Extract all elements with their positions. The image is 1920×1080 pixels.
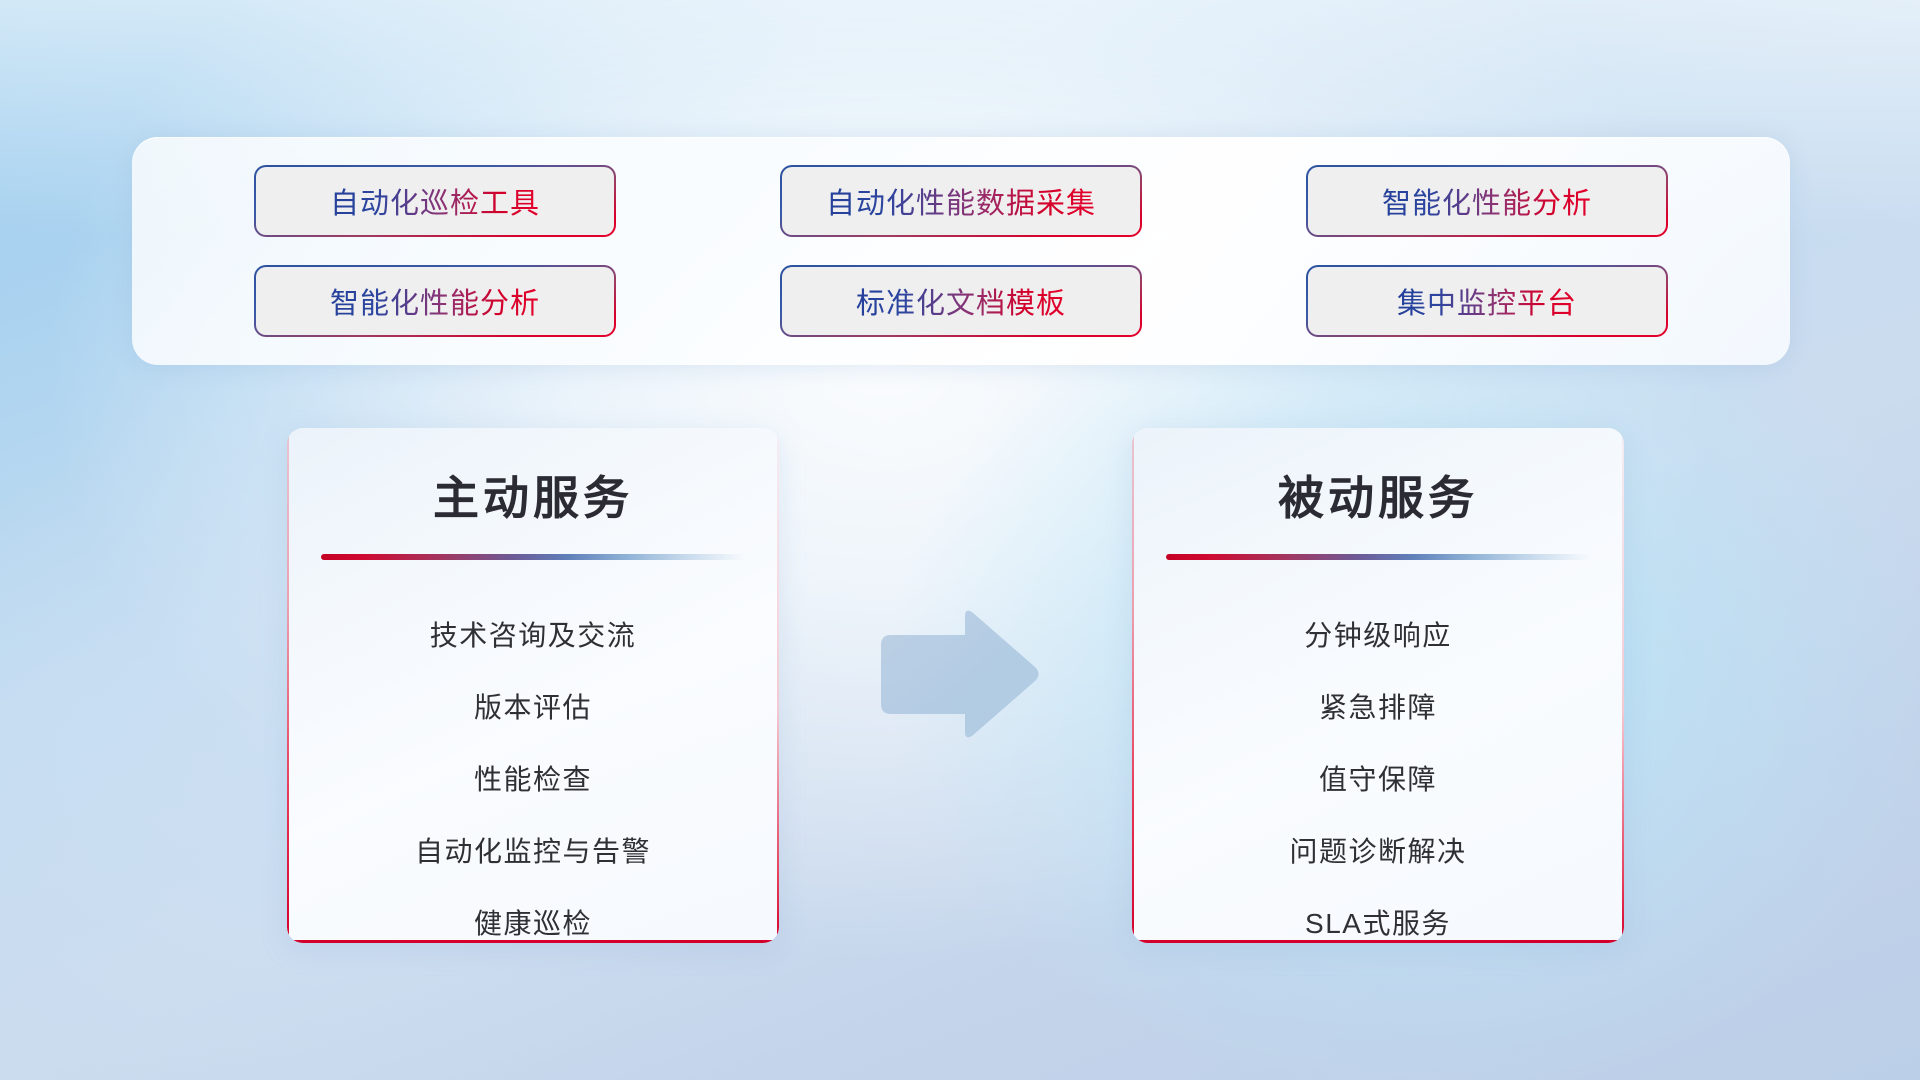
flow-arrow-icon <box>877 607 1042 742</box>
card-bottom-accent-border <box>1132 940 1624 943</box>
list-item[interactable]: 性能检查 <box>474 744 592 816</box>
card-item-list: 分钟级响应 紧急排障 值守保障 问题诊断解决 SLA式服务 <box>1132 600 1624 943</box>
capability-tag-3[interactable]: 智能化性能分析 <box>1308 167 1666 235</box>
capability-tags-grid: 自动化巡检工具 自动化性能数据采集 智能化性能分析 智能化性能分析 标准化文档模… <box>132 137 1790 365</box>
card-left-accent-border <box>1132 428 1134 943</box>
service-card-reactive[interactable]: 被动服务 分钟级响应 紧急排障 值守保障 问题诊断解决 SLA式服务 <box>1132 428 1624 943</box>
capability-tag-4[interactable]: 智能化性能分析 <box>256 267 614 335</box>
list-item[interactable]: 技术咨询及交流 <box>430 600 637 672</box>
card-title: 被动服务 <box>1132 428 1624 528</box>
list-item[interactable]: SLA式服务 <box>1305 888 1451 943</box>
list-item[interactable]: 问题诊断解决 <box>1289 816 1466 888</box>
card-right-accent-border <box>1622 428 1624 943</box>
capability-tag-6[interactable]: 集中监控平台 <box>1308 267 1666 335</box>
capability-tag-label: 集中监控平台 <box>1397 280 1577 322</box>
list-item[interactable]: 值守保障 <box>1319 744 1437 816</box>
card-divider-rule <box>1166 554 1590 560</box>
list-item[interactable]: 分钟级响应 <box>1304 600 1452 672</box>
card-right-accent-border <box>777 428 779 943</box>
card-left-accent-border <box>287 428 289 943</box>
list-item[interactable]: 自动化监控与告警 <box>415 816 651 888</box>
list-item[interactable]: 版本评估 <box>474 672 592 744</box>
card-item-list: 技术咨询及交流 版本评估 性能检查 自动化监控与告警 健康巡检 <box>287 600 779 943</box>
capability-tag-label: 自动化巡检工具 <box>330 180 540 222</box>
capability-tag-label: 标准化文档模板 <box>856 280 1066 322</box>
card-divider-rule <box>321 554 745 560</box>
capability-tag-label: 智能化性能分析 <box>1382 180 1592 222</box>
capability-tag-5[interactable]: 标准化文档模板 <box>782 267 1140 335</box>
capability-tag-2[interactable]: 自动化性能数据采集 <box>782 167 1140 235</box>
list-item[interactable]: 健康巡检 <box>474 888 592 943</box>
card-title: 主动服务 <box>287 428 779 528</box>
card-bottom-accent-border <box>287 940 779 943</box>
service-card-proactive[interactable]: 主动服务 技术咨询及交流 版本评估 性能检查 自动化监控与告警 健康巡检 <box>287 428 779 943</box>
capability-tags-panel: 自动化巡检工具 自动化性能数据采集 智能化性能分析 智能化性能分析 标准化文档模… <box>132 137 1790 365</box>
list-item[interactable]: 紧急排障 <box>1319 672 1437 744</box>
capability-tag-label: 智能化性能分析 <box>330 280 540 322</box>
capability-tag-label: 自动化性能数据采集 <box>826 180 1096 222</box>
capability-tag-1[interactable]: 自动化巡检工具 <box>256 167 614 235</box>
